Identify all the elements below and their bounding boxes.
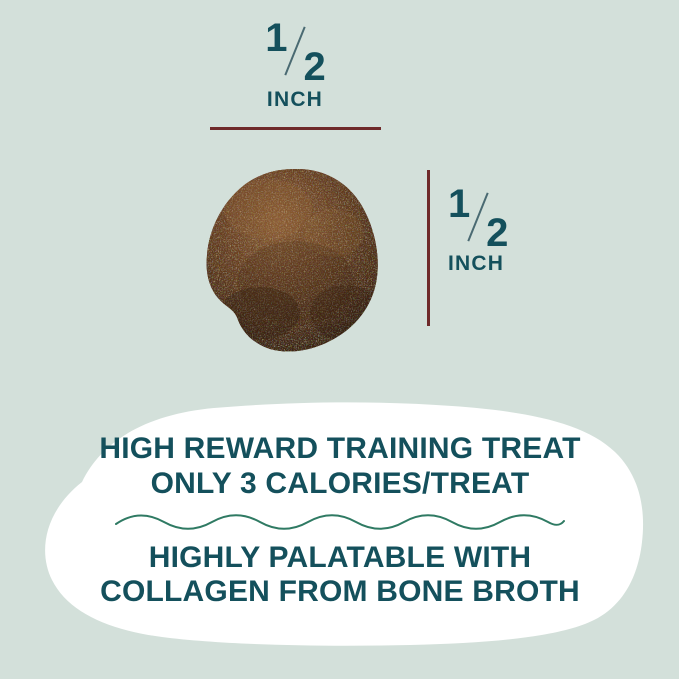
fraction-numerator: 1 bbox=[448, 184, 469, 224]
subline-line-2: COLLAGEN FROM BONE BROTH bbox=[60, 575, 620, 610]
fraction-slash-icon bbox=[467, 193, 488, 242]
headline-line-1: HIGH REWARD TRAINING TREAT bbox=[60, 432, 620, 467]
fraction-denominator: 2 bbox=[486, 213, 507, 253]
fraction-numerator: 1 bbox=[265, 18, 286, 58]
headline-line-2: ONLY 3 CALORIES/TREAT bbox=[60, 467, 620, 502]
wave-divider-icon bbox=[114, 511, 566, 531]
callout-content: HIGH REWARD TRAINING TREAT ONLY 3 CALORI… bbox=[60, 432, 620, 610]
dog-treat-kibble-icon bbox=[196, 163, 392, 359]
height-measure-rule bbox=[427, 170, 430, 326]
width-unit-label: INCH bbox=[210, 88, 380, 112]
subline-line-1: HIGHLY PALATABLE WITH bbox=[60, 541, 620, 576]
fraction-one-half-height: 1 2 bbox=[448, 188, 507, 240]
height-unit-label: INCH bbox=[448, 252, 578, 276]
width-measure-rule bbox=[210, 127, 381, 130]
height-dimension-label: 1 2 INCH bbox=[448, 188, 578, 276]
fraction-slash-icon bbox=[284, 27, 305, 76]
fraction-denominator: 2 bbox=[303, 47, 324, 87]
width-dimension-label: 1 2 INCH bbox=[210, 22, 380, 112]
fraction-one-half-width: 1 2 bbox=[265, 22, 324, 74]
product-infographic: 1 2 INCH 1 2 INCH bbox=[0, 0, 679, 679]
